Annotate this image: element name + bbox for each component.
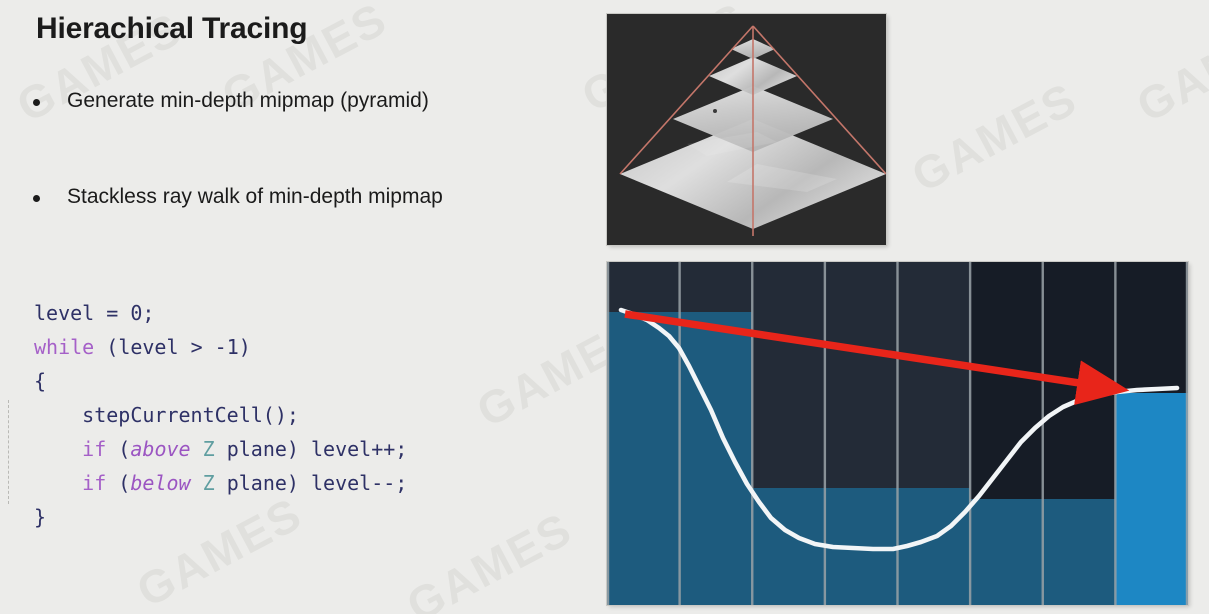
code-token: [191, 471, 203, 495]
code-token: (: [106, 471, 130, 495]
code-token: plane) level++;: [215, 437, 408, 461]
bullet-item-0: Generate min-depth mipmap (pyramid): [33, 88, 429, 114]
code-token: stepCurrentCell();: [34, 403, 299, 427]
code-line: while (level > -1): [34, 330, 407, 364]
code-token: while: [34, 335, 94, 359]
code-token: Z: [203, 437, 215, 461]
depth-cell-fill: [1115, 393, 1188, 605]
slide-left-column: Hierachical Tracing Generate min-depth m…: [0, 0, 600, 614]
code-token: below: [130, 471, 190, 495]
page-title: Hierachical Tracing: [36, 12, 307, 46]
code-token: 0: [130, 301, 142, 325]
code-line: if (above Z plane) level++;: [34, 432, 407, 466]
code-line: {: [34, 364, 407, 398]
code-token: }: [34, 505, 46, 529]
code-token: level: [118, 335, 178, 359]
code-line: stepCurrentCell();: [34, 398, 407, 432]
code-token: -1: [215, 335, 239, 359]
code-token: above: [130, 437, 190, 461]
mipmap-pyramid-figure: [607, 14, 886, 245]
code-token: (: [94, 335, 118, 359]
code-line: if (below Z plane) level--;: [34, 466, 407, 500]
watermark-text: GAMES: [1128, 1, 1209, 133]
bullet-text-0: Generate min-depth mipmap (pyramid): [67, 88, 429, 114]
depth-buffer-ray-walk-figure: [607, 262, 1188, 605]
code-line: }: [34, 500, 407, 534]
code-block: level = 0;while (level > -1){ stepCurren…: [34, 296, 407, 534]
code-token: [34, 471, 82, 495]
pyramid-svg: [607, 14, 886, 245]
code-token: (: [106, 437, 130, 461]
code-token: if: [82, 471, 106, 495]
bullet-marker-icon: [33, 99, 40, 106]
code-token: [34, 437, 82, 461]
code-token: level: [34, 301, 94, 325]
code-token: >: [179, 335, 215, 359]
depth-cell-fill: [607, 312, 680, 605]
code-token: ;: [142, 301, 154, 325]
code-token: [191, 437, 203, 461]
code-token: =: [94, 301, 130, 325]
depth-cell-fill: [970, 499, 1043, 605]
bullet-item-1: Stackless ray walk of min-depth mipmap: [33, 184, 443, 210]
code-token: if: [82, 437, 106, 461]
code-token: {: [34, 369, 46, 393]
depth-cell-fill: [1043, 499, 1116, 605]
depth-cell-fill: [680, 312, 753, 605]
code-token: plane) level--;: [215, 471, 408, 495]
code-indent-guide: [8, 400, 9, 504]
watermark-text: GAMES: [903, 71, 1086, 203]
bullet-text-1: Stackless ray walk of min-depth mipmap: [67, 184, 443, 210]
code-token: ): [239, 335, 251, 359]
code-line: level = 0;: [34, 296, 407, 330]
bullet-marker-icon: [33, 195, 40, 202]
depth-buffer-svg: [607, 262, 1188, 605]
code-token: Z: [203, 471, 215, 495]
